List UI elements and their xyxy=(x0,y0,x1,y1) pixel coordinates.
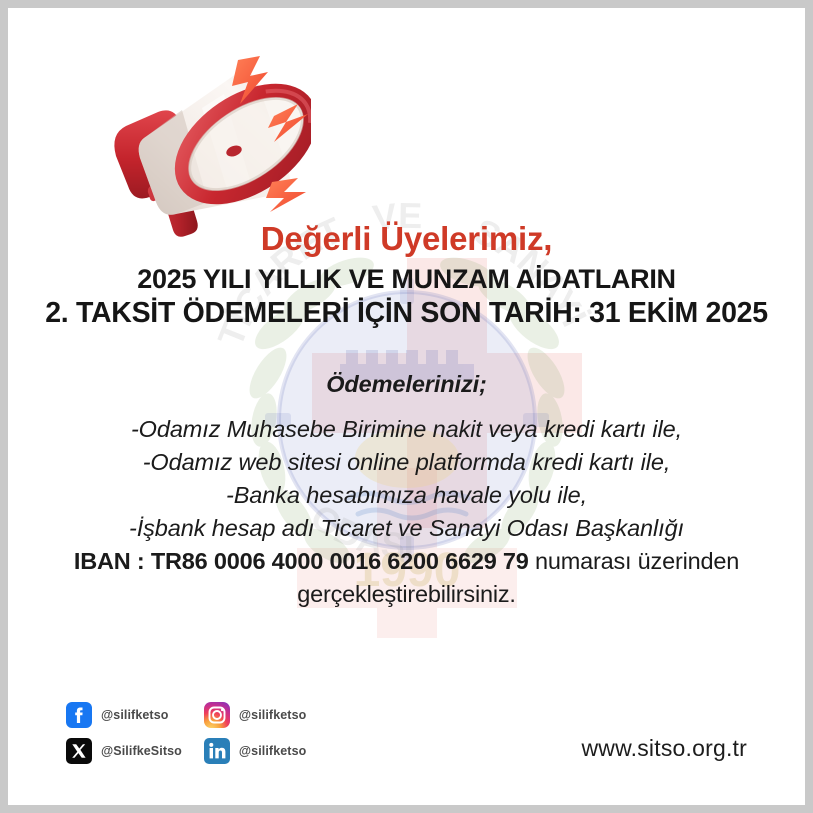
social-link-linkedin[interactable]: @silifketso xyxy=(204,738,306,764)
social-handle-linkedin: @silifketso xyxy=(239,744,306,758)
social-link-facebook[interactable]: @silifketso xyxy=(66,702,182,728)
megaphone-icon xyxy=(86,46,311,246)
iban-label: IBAN : xyxy=(74,548,151,574)
poster-frame: TİCARET VE SANAYİ ODASI 1990 xyxy=(0,0,813,813)
subheading-line-1: 2025 YILI YILLIK VE MUNZAM AİDATLARIN xyxy=(8,264,805,294)
website-url[interactable]: www.sitso.org.tr xyxy=(581,735,747,762)
closing-line: gerçekleştirebilirsiniz. xyxy=(8,578,805,611)
x-twitter-icon[interactable] xyxy=(66,738,92,764)
iban-suffix: numarası üzerinden xyxy=(529,548,739,574)
iban-line: IBAN : TR86 0006 4000 0016 6200 6629 79 … xyxy=(8,545,805,578)
facebook-icon[interactable] xyxy=(66,702,92,728)
payment-instructions: Ödemelerinizi; -Odamız Muhasebe Birimine… xyxy=(8,368,805,611)
payment-option: -Banka hesabımıza havale yolu ile, xyxy=(8,479,805,512)
instructions-intro: Ödemelerinizi; xyxy=(8,368,805,401)
social-handle-facebook: @silifketso xyxy=(101,708,168,722)
subheading-line-2: 2. TAKSİT ÖDEMELERİ İÇİN SON TARİH: 31 E… xyxy=(8,298,805,330)
social-handle-x: @SilifkeSitso xyxy=(101,744,182,758)
social-handle-instagram: @silifketso xyxy=(239,708,306,722)
social-link-x[interactable]: @SilifkeSitso xyxy=(66,738,182,764)
announcement-card: TİCARET VE SANAYİ ODASI 1990 xyxy=(8,8,805,805)
payment-option: -Odamız Muhasebe Birimine nakit veya kre… xyxy=(8,413,805,446)
page-title: Değerli Üyelerimiz, xyxy=(8,221,805,257)
payment-option: -Odamız web sitesi online platformda kre… xyxy=(8,446,805,479)
linkedin-icon[interactable] xyxy=(204,738,230,764)
iban-number: TR86 0006 4000 0016 6200 6629 79 xyxy=(151,548,529,574)
payment-option: -İşbank hesap adı Ticaret ve Sanayi Odas… xyxy=(8,512,805,545)
social-link-instagram[interactable]: @silifketso xyxy=(204,702,306,728)
instagram-icon[interactable] xyxy=(204,702,230,728)
social-links: @silifketso xyxy=(66,702,306,764)
